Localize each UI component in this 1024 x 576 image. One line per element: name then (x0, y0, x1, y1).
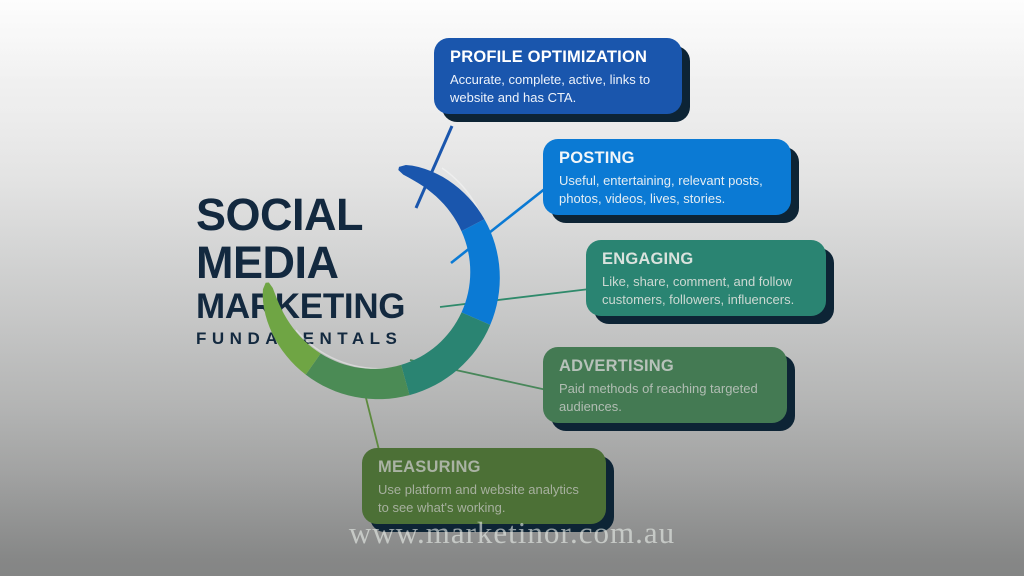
card-title-advertising: ADVERTISING (559, 357, 771, 377)
card-profile-optimization[interactable]: PROFILE OPTIMIZATION Accurate, complete,… (434, 38, 682, 114)
arc-segment-measuring[interactable] (263, 282, 321, 374)
infographic-canvas: SOCIAL MEDIA MARKETING FUNDAMENTALS PROF… (0, 0, 1024, 576)
card-body-measuring: Use platform and website analytics to se… (378, 481, 590, 518)
card-body-profile-optimization: Accurate, complete, active, links to web… (450, 71, 666, 108)
crescent-arc-graphic (236, 130, 516, 420)
card-body-engaging: Like, share, comment, and follow custome… (602, 273, 810, 310)
card-title-profile-optimization: PROFILE OPTIMIZATION (450, 48, 666, 68)
card-body-posting: Useful, entertaining, relevant posts, ph… (559, 172, 775, 209)
arc-segment-posting[interactable] (461, 219, 499, 325)
arc-segment-engaging[interactable] (401, 312, 490, 395)
card-title-engaging: ENGAGING (602, 250, 810, 270)
arc-segment-advertising[interactable] (306, 354, 410, 400)
card-title-posting: POSTING (559, 149, 775, 169)
card-body-advertising: Paid methods of reaching targeted audien… (559, 380, 771, 417)
watermark: www.marketinor.com.au (0, 515, 1024, 551)
card-engaging[interactable]: ENGAGING Like, share, comment, and follo… (586, 240, 826, 316)
card-advertising[interactable]: ADVERTISING Paid methods of reaching tar… (543, 347, 787, 423)
card-posting[interactable]: POSTING Useful, entertaining, relevant p… (543, 139, 791, 215)
card-title-measuring: MEASURING (378, 458, 590, 478)
card-measuring[interactable]: MEASURING Use platform and website analy… (362, 448, 606, 524)
